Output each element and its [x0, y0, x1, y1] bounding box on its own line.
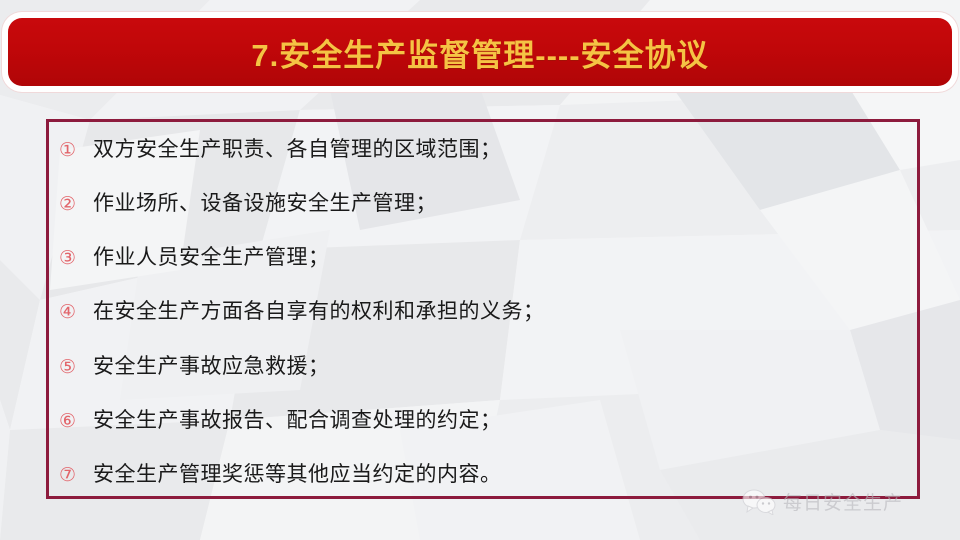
list-item: ① 双方安全生产职责、各自管理的区域范围； [59, 138, 917, 161]
list-item-marker: ⑥ [59, 412, 93, 431]
list-item-label: 安全生产管理奖惩等其他应当约定的内容。 [93, 463, 502, 486]
list-item-label: 作业人员安全生产管理； [93, 246, 330, 269]
page-title: 7.安全生产监督管理----安全协议 [251, 30, 708, 75]
content-box: ① 双方安全生产职责、各自管理的区域范围； ② 作业场所、设备设施安全生产管理；… [46, 119, 920, 499]
watermark: 每日安全生产 [742, 488, 903, 515]
list-item-label: 安全生产事故应急救援； [93, 355, 330, 378]
list-item: ⑤ 安全生产事故应急救援； [59, 355, 917, 378]
slide-title-banner: 7.安全生产监督管理----安全协议 [8, 18, 952, 86]
list-item-label: 作业场所、设备设施安全生产管理； [93, 192, 437, 215]
list-item: ② 作业场所、设备设施安全生产管理； [59, 192, 917, 215]
list-item: ⑦ 安全生产管理奖惩等其他应当约定的内容。 [59, 463, 917, 486]
list-item-label: 安全生产事故报告、配合调查处理的约定； [93, 409, 502, 432]
agreement-item-list: ① 双方安全生产职责、各自管理的区域范围； ② 作业场所、设备设施安全生产管理；… [49, 122, 917, 496]
wechat-icon [742, 489, 776, 515]
list-item: ④ 在安全生产方面各自享有的权利和承担的义务； [59, 300, 917, 323]
slide: 7.安全生产监督管理----安全协议 ① 双方安全生产职责、各自管理的区域范围；… [0, 0, 960, 540]
list-item-marker: ① [59, 141, 93, 160]
list-item: ⑥ 安全生产事故报告、配合调查处理的约定； [59, 409, 917, 432]
list-item-marker: ⑤ [59, 358, 93, 377]
list-item-marker: ③ [59, 249, 93, 268]
list-item-marker: ② [59, 195, 93, 214]
list-item-marker: ④ [59, 303, 93, 322]
watermark-label: 每日安全生产 [783, 488, 903, 515]
list-item-label: 双方安全生产职责、各自管理的区域范围； [93, 138, 502, 161]
list-item: ③ 作业人员安全生产管理； [59, 246, 917, 269]
list-item-marker: ⑦ [59, 466, 93, 485]
list-item-label: 在安全生产方面各自享有的权利和承担的义务； [93, 300, 545, 323]
